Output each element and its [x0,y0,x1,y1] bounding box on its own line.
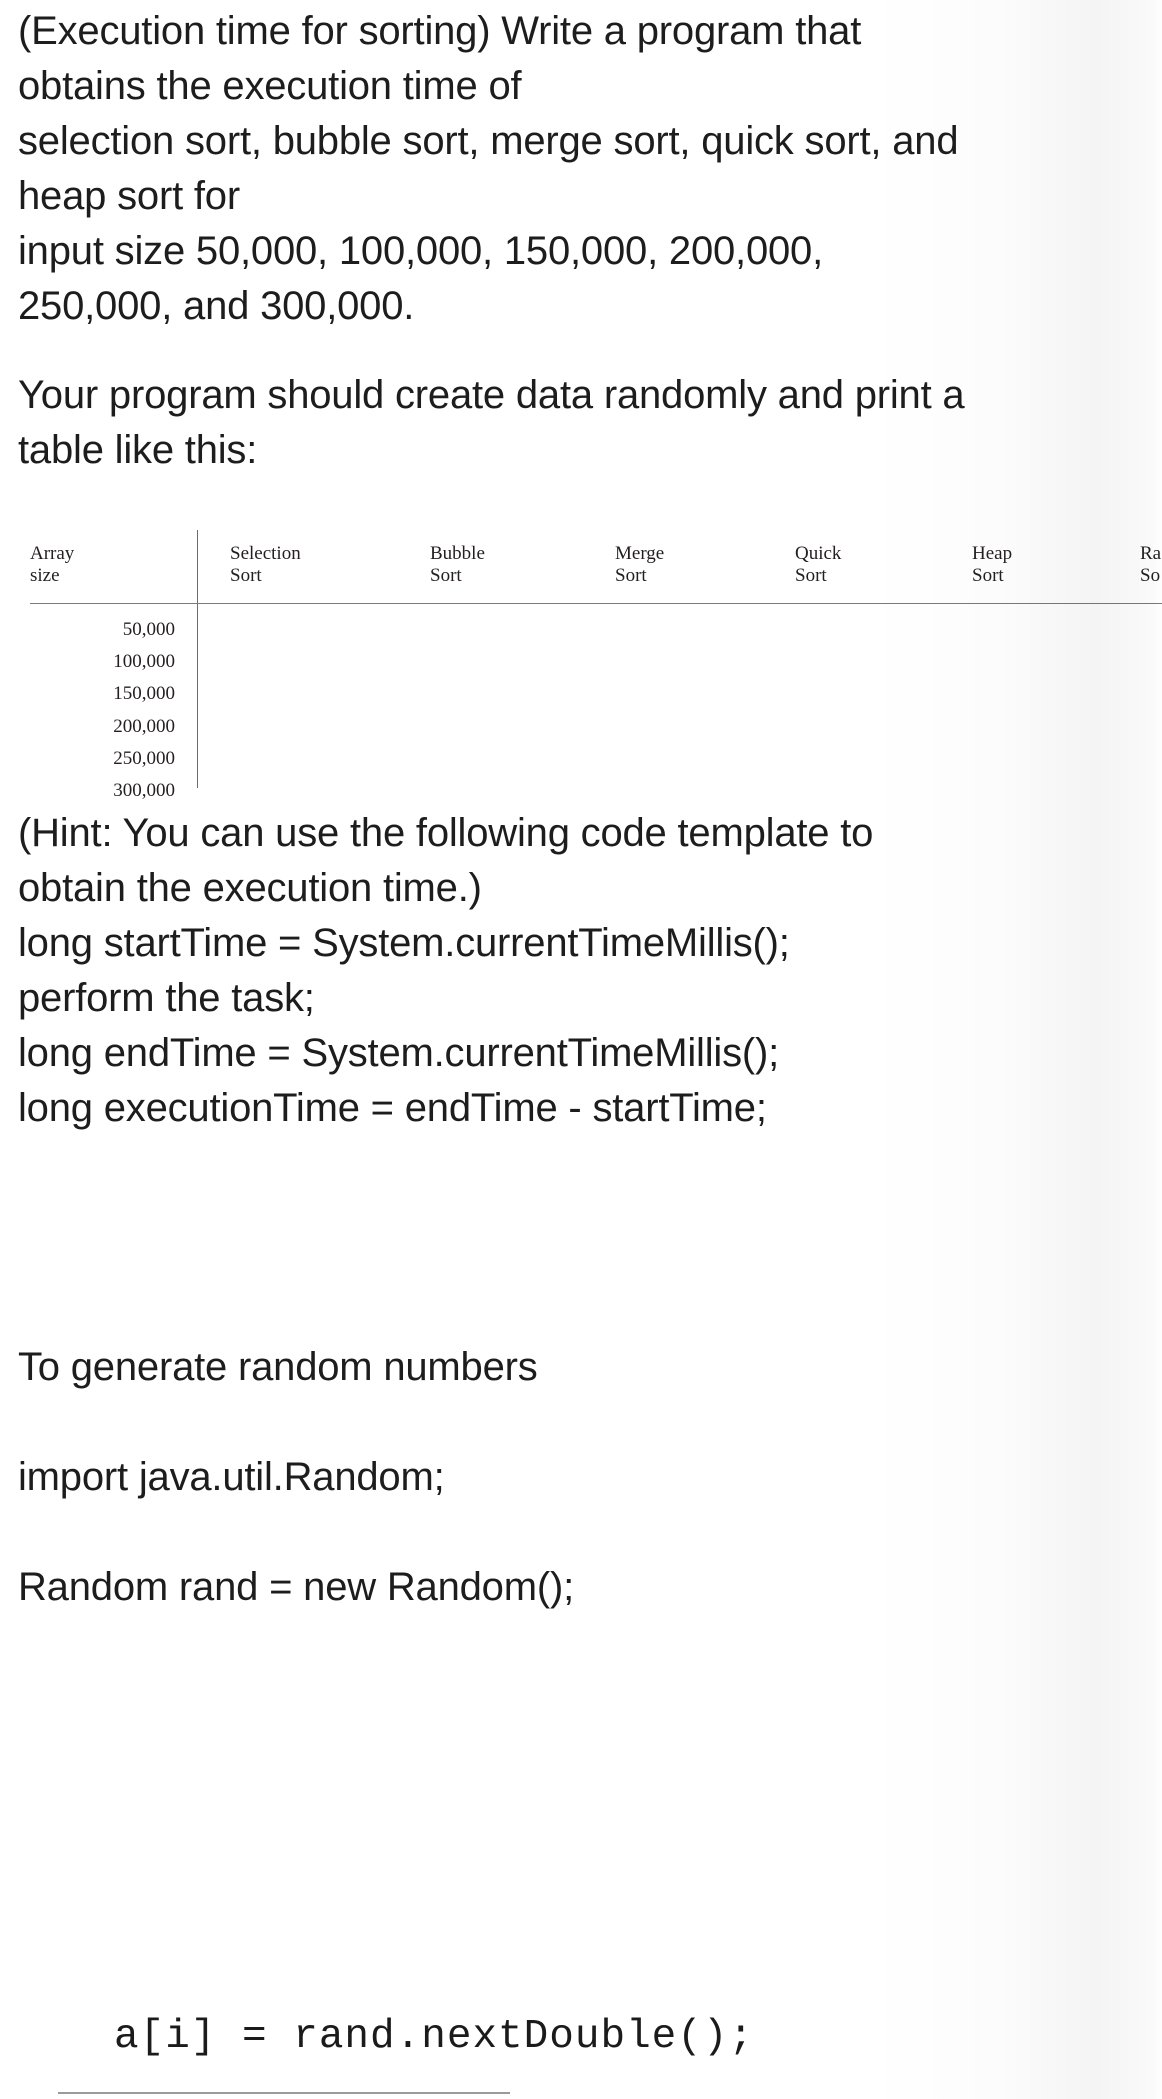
table-row-label-300000: 300,000 [30,781,175,801]
table-header-array-size-line1: Array [30,543,74,565]
table-vertical-rule [197,530,198,788]
table-header-bubble-sort-line1: Bubble [430,543,485,565]
intro-line-4: heap sort for [18,169,1162,224]
table-header-quick-sort-line2: Sort [795,565,841,587]
code-text: a[i] = rand.nextDouble(); [114,2014,754,2060]
hint-line-1: (Hint: You can use the following code te… [18,806,1162,861]
random-import-line: import java.util.Random; [18,1450,1162,1505]
intro-line-3: selection sort, bubble sort, merge sort,… [18,114,1162,169]
intro-paragraph: (Execution time for sorting) Write a pro… [18,4,1162,334]
intro-line-5: input size 50,000, 100,000, 150,000, 200… [18,224,1162,279]
sorting-times-table: Array size Selection Sort Bubble Sort Me… [0,525,1162,790]
table-header-array-size: Array size [30,543,74,587]
table-header-merge-sort-line2: Sort [615,565,664,587]
table-header-array-size-line2: size [30,565,74,587]
intro-line-1: (Execution time for sorting) Write a pro… [18,4,1162,59]
hint-code-perform-task: perform the task; [18,971,1162,1026]
table-header-radix-sort-line2: So [1140,565,1161,587]
table-row-label-50000: 50,000 [30,620,175,640]
table-row-label-200000: 200,000 [30,717,175,737]
intro-line-6: 250,000, and 300,000. [18,279,1162,334]
random-numbers-paragraph: To generate random numbers import java.u… [18,1230,1162,1615]
second-line-1: Your program should create data randomly… [18,368,1162,423]
hint-code-execution-time: long executionTime = endTime - startTime… [18,1081,1162,1136]
table-header-quick-sort: Quick Sort [795,543,841,587]
hint-code-end-time: long endTime = System.currentTimeMillis(… [18,1026,1162,1081]
table-header-bubble-sort: Bubble Sort [430,543,485,587]
bottom-horizontal-rule [58,2092,510,2094]
table-header-heap-sort-line1: Heap [972,543,1012,565]
table-header-quick-sort-line1: Quick [795,543,841,565]
table-header-merge-sort: Merge Sort [615,543,664,587]
spacer-line-2 [18,1285,1162,1340]
monospace-code-line: a[i] = rand.nextDouble(); [18,2012,1162,2062]
table-row-label-100000: 100,000 [30,652,175,672]
table-row-label-250000: 250,000 [30,749,175,769]
table-header-heap-sort: Heap Sort [972,543,1012,587]
table-header-heap-sort-line2: Sort [972,565,1012,587]
intro-line-2: obtains the execution time of [18,59,1162,114]
document-page: (Execution time for sorting) Write a pro… [0,0,1162,2099]
table-header-bubble-sort-line2: Sort [430,565,485,587]
hint-code-start-time: long startTime = System.currentTimeMilli… [18,916,1162,971]
second-paragraph: Your program should create data randomly… [18,368,1162,478]
random-new-instance-line: Random rand = new Random(); [18,1560,1162,1615]
table-header-merge-sort-line1: Merge [615,543,664,565]
table-row-label-150000: 150,000 [30,684,175,704]
table-header-selection-sort: Selection Sort [230,543,301,587]
table-header-radix-sort-clipped: Ra So [1140,543,1161,587]
second-line-2: table like this: [18,423,1162,478]
hint-paragraph: (Hint: You can use the following code te… [18,806,1162,1136]
table-header-rule [30,603,1162,604]
hint-line-2: obtain the execution time.) [18,861,1162,916]
spacer-line-3 [18,1395,1162,1450]
spacer-line-4 [18,1505,1162,1560]
spacer-line-1 [18,1230,1162,1285]
random-heading-line: To generate random numbers [18,1340,1162,1395]
table-header-radix-sort-line1: Ra [1140,543,1161,565]
table-header-selection-sort-line1: Selection [230,543,301,565]
table-header-selection-sort-line2: Sort [230,565,301,587]
